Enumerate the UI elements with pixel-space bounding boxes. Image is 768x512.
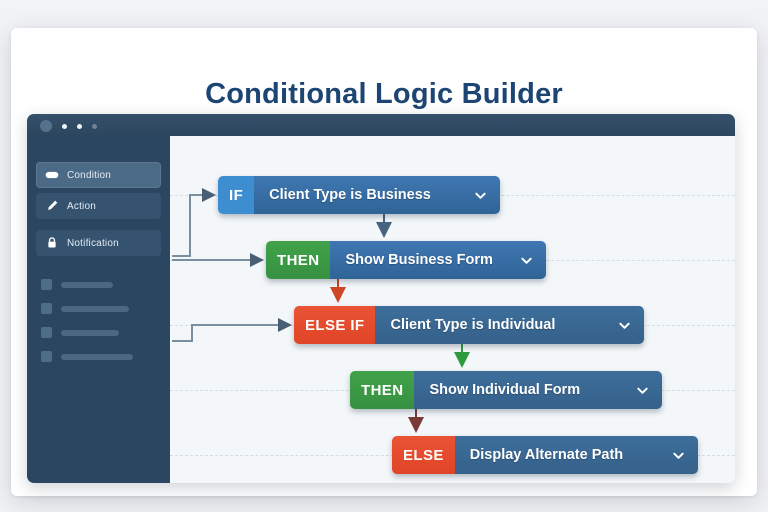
flow-node-else-if-badge: ELSE IF [294,306,375,344]
sidebar-item-condition-label: Condition [67,170,111,181]
flow-node-else-body[interactable]: Display Alternate Path [455,436,698,474]
sidebar-placeholder-list [41,279,133,375]
flow-node-then-2-label: Show Individual Form [429,382,580,398]
app-window: Condition Action [27,114,735,483]
flow-node-then-2[interactable]: THEN Show Individual Form [350,371,662,409]
flow-node-then-1-badge: THEN [266,241,330,279]
window-titlebar [27,114,735,136]
placeholder-bar [61,282,113,288]
toggle-pill-icon [45,168,59,182]
window-dot-1-icon[interactable] [62,124,67,129]
list-item [41,327,133,338]
sidebar: Condition Action [27,136,170,483]
flow-node-then-2-badge: THEN [350,371,414,409]
flow-node-else-if-label: Client Type is Individual [390,317,555,333]
flow-node-if-body[interactable]: Client Type is Business [254,176,500,214]
chevron-down-icon[interactable] [672,449,685,462]
flow-node-then-1-body[interactable]: Show Business Form [330,241,546,279]
placeholder-bar [61,330,119,336]
chevron-down-icon[interactable] [636,384,649,397]
lock-icon [45,236,59,250]
chevron-down-icon[interactable] [618,319,631,332]
flow-node-else-if-body[interactable]: Client Type is Individual [375,306,644,344]
window-dot-2-icon[interactable] [77,124,82,129]
window-controls [40,120,97,132]
sidebar-item-notification[interactable]: Notification [36,230,161,256]
flow-node-if-badge: IF [218,176,254,214]
flow-node-else-badge: ELSE [392,436,455,474]
list-item [41,303,133,314]
sidebar-item-action-label: Action [67,201,96,212]
flow-node-else-if[interactable]: ELSE IF Client Type is Individual [294,306,644,344]
chevron-down-icon[interactable] [474,189,487,202]
sidebar-item-action[interactable]: Action [36,193,161,219]
flow-node-if-label: Client Type is Business [269,187,431,203]
window-dot-3-icon[interactable] [92,124,97,129]
placeholder-square-icon [41,327,52,338]
sidebar-item-condition[interactable]: Condition [36,162,161,188]
flow-node-then-1[interactable]: THEN Show Business Form [266,241,546,279]
flow-node-else[interactable]: ELSE Display Alternate Path [392,436,698,474]
pencil-icon [45,199,59,213]
list-item [41,279,133,290]
page-title: Conditional Logic Builder [11,78,757,111]
flow-node-then-1-label: Show Business Form [345,252,492,268]
placeholder-bar [61,306,129,312]
placeholder-bar [61,354,133,360]
list-item [41,351,133,362]
placeholder-square-icon [41,351,52,362]
flow-node-else-label: Display Alternate Path [470,447,623,463]
screenshot-root: Conditional Logic Builder Condition [0,0,768,512]
window-dot-large-icon[interactable] [40,120,52,132]
flow-canvas: IF Client Type is Business THEN Show Bus… [170,136,735,483]
placeholder-square-icon [41,303,52,314]
sidebar-item-notification-label: Notification [67,238,119,249]
flow-node-if[interactable]: IF Client Type is Business [218,176,500,214]
placeholder-square-icon [41,279,52,290]
chevron-down-icon[interactable] [520,254,533,267]
page-card: Conditional Logic Builder Condition [11,28,757,496]
flow-node-then-2-body[interactable]: Show Individual Form [414,371,662,409]
